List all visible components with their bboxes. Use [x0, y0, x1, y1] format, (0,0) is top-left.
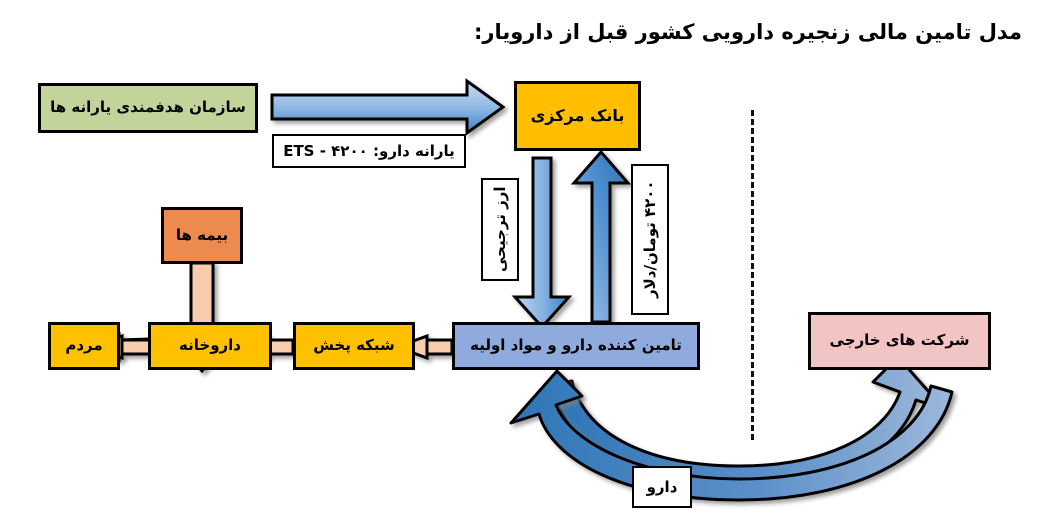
node-subsidy-organization[interactable]: سازمان هدفمندی یارانه ها: [38, 83, 258, 133]
label-drug: دارو: [632, 466, 692, 508]
node-insurers-label: بیمه ها: [176, 227, 228, 244]
arrow-bank-to-supplier-down: [515, 158, 569, 327]
label-exchange-rate: ۴۲۰۰ تومان/دلار: [631, 164, 669, 315]
node-supplier-label: تامین کننده دارو و مواد اولیه: [470, 337, 682, 354]
label-preferential-currency: ارز ترجیحی: [481, 178, 519, 281]
label-drug-subsidy-text: یارانه دارو: ETS - ۴۲۰۰: [283, 142, 455, 160]
node-pharmacy[interactable]: داروخانه: [148, 322, 272, 370]
node-central-bank-label: بانک مرکزی: [531, 107, 625, 125]
node-central-bank[interactable]: بانک مرکزی: [514, 81, 641, 151]
node-distribution-network-label: شبکه پخش: [313, 337, 395, 354]
label-drug-subsidy: یارانه دارو: ETS - ۴۲۰۰: [272, 134, 466, 168]
diagram-canvas: مدل تامین مالی زنجیره دارویی کشور قبل از…: [0, 0, 1064, 524]
node-pharmacy-label: داروخانه: [179, 337, 241, 354]
node-foreign-companies-label: شرکت های خارجی: [830, 332, 970, 349]
label-preferential-currency-text: ارز ترجیحی: [491, 187, 509, 273]
node-supplier[interactable]: تامین کننده دارو و مواد اولیه: [452, 322, 700, 370]
node-subsidy-organization-label: سازمان هدفمندی یارانه ها: [50, 99, 246, 116]
node-insurers[interactable]: بیمه ها: [161, 207, 243, 264]
arrow-layer: [0, 0, 1064, 524]
node-distribution-network[interactable]: شبکه پخش: [293, 322, 415, 370]
arrow-supplier-to-bank-up: [574, 152, 628, 322]
node-foreign-companies[interactable]: شرکت های خارجی: [808, 312, 991, 370]
node-people[interactable]: مردم: [48, 322, 120, 370]
label-exchange-rate-text: ۴۲۰۰ تومان/دلار: [641, 181, 659, 299]
arrow-subsidy-to-bank: [272, 81, 503, 133]
label-drug-text: دارو: [647, 478, 678, 496]
node-people-label: مردم: [65, 337, 102, 354]
